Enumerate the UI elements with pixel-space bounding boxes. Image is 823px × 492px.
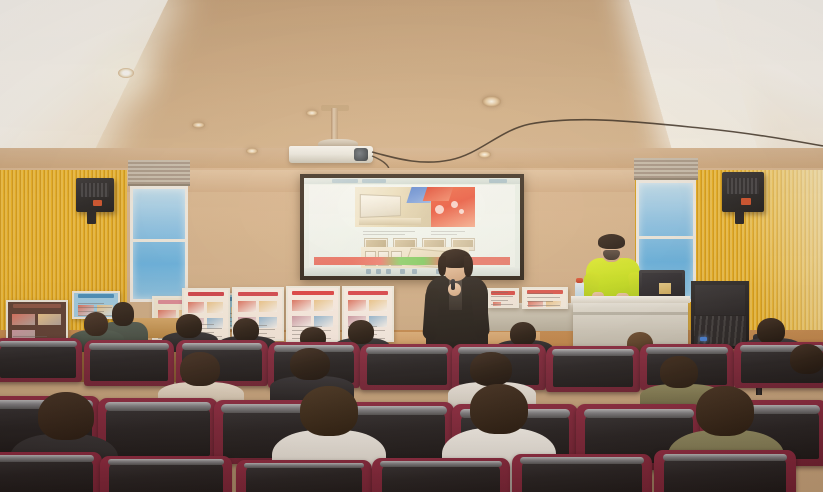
seat-cushion bbox=[0, 345, 76, 378]
attendee-head bbox=[348, 320, 374, 344]
attendee-head bbox=[757, 318, 785, 344]
speaker-grille bbox=[81, 183, 110, 197]
poster-image bbox=[493, 302, 501, 308]
hero-desk-illustration bbox=[359, 218, 421, 225]
taskbar-icon[interactable] bbox=[412, 269, 417, 274]
hero-dot bbox=[451, 201, 458, 208]
hero-dot bbox=[435, 205, 444, 214]
poster-text-line bbox=[527, 301, 552, 302]
auditorium-seat[interactable] bbox=[84, 340, 174, 386]
attendee-head bbox=[38, 392, 94, 440]
poster-text-line bbox=[491, 300, 508, 301]
poster-text-line bbox=[13, 336, 48, 337]
poster-title-band bbox=[13, 304, 62, 308]
seat-cushion bbox=[106, 408, 209, 455]
downlight-bright-icon bbox=[118, 68, 134, 78]
handheld-microphone-icon bbox=[451, 279, 455, 290]
host-hair bbox=[598, 234, 625, 249]
speaker-brand-logo bbox=[741, 198, 750, 204]
auditorium-seat[interactable] bbox=[512, 454, 652, 492]
downlight-icon bbox=[192, 122, 205, 128]
attendee-head bbox=[696, 386, 754, 436]
poster-image bbox=[369, 300, 387, 311]
taskbar-icon[interactable] bbox=[376, 269, 381, 274]
taskbar-icon[interactable] bbox=[400, 269, 405, 274]
downlight-icon bbox=[482, 96, 501, 107]
poster-image bbox=[348, 300, 366, 311]
poster-image bbox=[292, 300, 311, 311]
window-right-mullion bbox=[636, 236, 696, 239]
hero-dot bbox=[459, 209, 464, 214]
auditorium-seat[interactable] bbox=[372, 458, 510, 492]
seat-top-rail bbox=[89, 343, 168, 349]
seat-top-rail bbox=[0, 341, 77, 347]
hero-device-illustration bbox=[360, 194, 401, 218]
auditorium-seat[interactable] bbox=[236, 460, 372, 492]
lectern-trim bbox=[573, 312, 688, 315]
attendee-head bbox=[233, 318, 259, 342]
auditorium-seat[interactable] bbox=[546, 346, 640, 392]
poster-text-line bbox=[491, 292, 508, 293]
hero-red-accent bbox=[423, 187, 454, 201]
wall-speaker-right bbox=[722, 172, 764, 212]
poster-image bbox=[314, 300, 333, 311]
poster-image bbox=[38, 314, 61, 325]
downlight-icon bbox=[246, 148, 258, 154]
seat-cushion bbox=[664, 458, 786, 492]
window-left-blind[interactable] bbox=[128, 160, 190, 186]
seat-top-rail bbox=[108, 459, 224, 465]
poster-text-line bbox=[527, 297, 560, 298]
seat-cushion bbox=[246, 466, 363, 492]
downlight-icon bbox=[478, 151, 491, 158]
poster-text-line bbox=[491, 296, 513, 297]
seat-top-rail bbox=[0, 455, 94, 462]
seat-top-rail bbox=[663, 454, 788, 461]
seat-cushion bbox=[522, 461, 642, 492]
poster-title-band bbox=[348, 291, 388, 295]
seat-top-rail bbox=[520, 457, 643, 463]
monitor-sticky-note bbox=[659, 283, 671, 294]
poster-board-ledge-right[interactable] bbox=[522, 287, 568, 309]
auditorium-seat[interactable] bbox=[100, 456, 232, 492]
taskbar-icon[interactable] bbox=[366, 269, 371, 274]
taskbar-icon[interactable] bbox=[386, 269, 391, 274]
poster-text-line bbox=[527, 293, 552, 294]
attendee-head bbox=[176, 314, 202, 338]
browser-tab[interactable] bbox=[489, 179, 507, 183]
auditorium-seat[interactable] bbox=[654, 450, 796, 492]
poster-image bbox=[238, 301, 256, 312]
wall-speaker-right-bracket bbox=[735, 210, 744, 224]
seat-cushion bbox=[553, 353, 634, 387]
seat-cushion bbox=[382, 465, 501, 492]
attendee-head bbox=[470, 384, 528, 434]
seat-cushion bbox=[109, 463, 223, 492]
rack-status-led-icon bbox=[700, 337, 707, 341]
speaker-grille bbox=[727, 178, 759, 195]
poster-image bbox=[207, 302, 223, 313]
rack-cabling bbox=[694, 316, 746, 346]
poster-text-line bbox=[78, 307, 112, 308]
projection-screen[interactable] bbox=[300, 174, 524, 280]
os-taskbar bbox=[304, 268, 520, 276]
poster-title-band bbox=[78, 294, 115, 298]
projection-screen-surface bbox=[304, 178, 520, 276]
presenter-hair-side bbox=[464, 256, 473, 277]
projector-lens-icon bbox=[354, 148, 368, 161]
webpage-content bbox=[309, 185, 515, 267]
seat-top-rail bbox=[380, 461, 501, 467]
hero-banner bbox=[355, 187, 475, 227]
attendee-head bbox=[112, 302, 134, 326]
poster-text-line bbox=[527, 305, 560, 306]
footer-cta-bar[interactable] bbox=[314, 257, 510, 265]
seat-top-rail bbox=[182, 343, 263, 349]
poster-image bbox=[12, 314, 35, 325]
browser-tab[interactable] bbox=[332, 179, 358, 183]
attendee-head bbox=[660, 356, 698, 388]
auditorium-seat[interactable] bbox=[360, 344, 454, 390]
seat-top-rail bbox=[646, 347, 729, 353]
seat-top-rail bbox=[244, 463, 364, 469]
wall-speaker-left bbox=[76, 178, 114, 212]
browser-tab[interactable] bbox=[362, 179, 386, 183]
auditorium-seat[interactable] bbox=[0, 338, 82, 382]
seat-cushion bbox=[90, 347, 167, 381]
window-right-blind[interactable] bbox=[634, 158, 698, 180]
poster-title-band bbox=[292, 291, 334, 295]
seat-cushion bbox=[367, 351, 448, 385]
seat-top-rail bbox=[584, 409, 695, 418]
seat-top-rail bbox=[366, 347, 449, 353]
attendee-head bbox=[84, 312, 108, 336]
attendee-head bbox=[180, 352, 220, 386]
poster-title-band bbox=[238, 292, 278, 296]
attendee-head bbox=[470, 352, 512, 386]
poster-image bbox=[188, 302, 204, 313]
browser-chrome-bar bbox=[304, 178, 520, 184]
attendee-head bbox=[290, 348, 330, 380]
attendee-head bbox=[510, 322, 536, 346]
speaker-brand-logo bbox=[93, 200, 101, 205]
seat-top-rail bbox=[105, 402, 211, 411]
wall-speaker-left-bracket bbox=[87, 210, 96, 224]
seat-cushion bbox=[0, 460, 93, 492]
poster-image bbox=[259, 317, 277, 328]
window-left-glass bbox=[130, 186, 188, 302]
lectern-top-surface bbox=[571, 296, 690, 303]
auditorium-seat[interactable] bbox=[0, 452, 102, 492]
window-left-mullion bbox=[130, 239, 188, 242]
downlight-icon bbox=[306, 110, 318, 116]
poster-image bbox=[259, 301, 277, 312]
poster-title-band bbox=[188, 292, 225, 296]
poster-board-ledge-left[interactable] bbox=[487, 288, 519, 308]
water-bottle-cap bbox=[576, 278, 583, 283]
poster-text-line bbox=[491, 304, 513, 305]
lecture-hall-photo bbox=[0, 0, 823, 492]
rack-front-panel bbox=[695, 285, 745, 315]
seat-top-rail bbox=[552, 349, 635, 355]
poster-text-line bbox=[78, 303, 104, 304]
presenter-hair-side bbox=[438, 256, 446, 276]
attendee-head bbox=[300, 386, 358, 436]
attendee-head bbox=[790, 344, 823, 374]
